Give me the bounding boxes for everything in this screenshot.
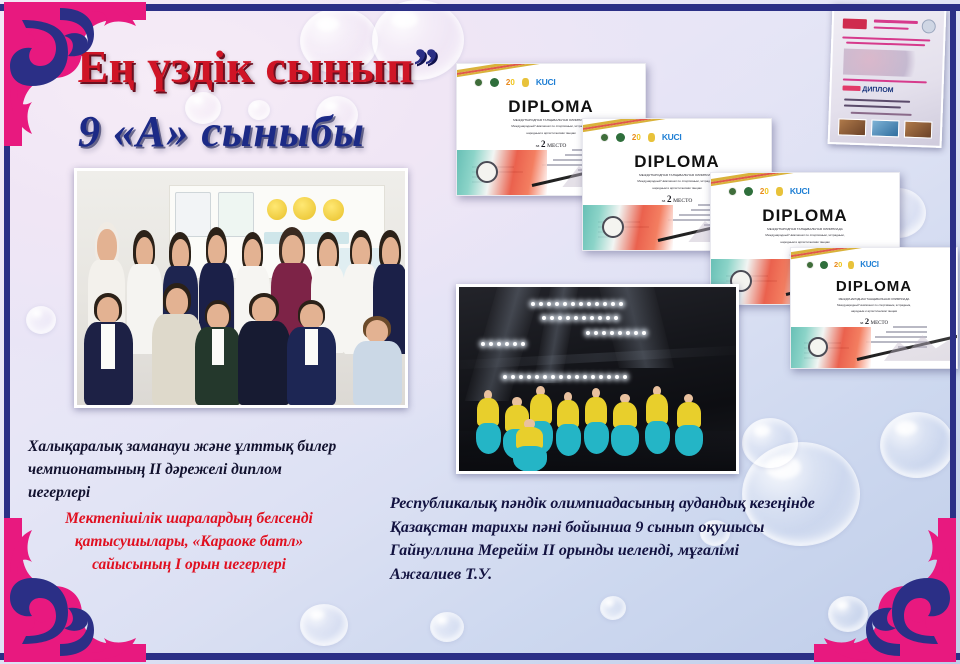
diploma-place: за 2 МЕСТО: [791, 316, 957, 326]
place-prefix: за: [860, 320, 864, 325]
figure-logo: [776, 187, 783, 196]
seal-icon: [602, 216, 624, 238]
diploma-subtitle-line2: Международный Чемпионат по спортивным, э…: [791, 303, 957, 307]
caption-line: чемпионатының II дәрежелі диплом: [28, 459, 428, 482]
anniversary-logo: 20: [632, 133, 641, 142]
frame-border-top: [0, 4, 960, 11]
diploma-subtitle-line3: народным и артистическим танцам: [711, 240, 899, 244]
kuci-logo: KUCI: [790, 186, 810, 196]
figure-logo: [522, 78, 529, 87]
caption-line: Мектепішілік шаралардың белсенді: [24, 508, 354, 531]
class-name-subtitle: 9 «А» сыныбы: [78, 106, 439, 157]
caption-line: сайысының I орын иегерлері: [24, 554, 354, 577]
diploma-subtitle-line1: МЕЖДУНАРОДНАЯ ТАНЦЕВАЛЬНАЯ ОЛИМПИАДА: [711, 227, 899, 231]
seal-icon: [476, 161, 498, 183]
place-number: 2: [541, 139, 546, 149]
poster-heading: “Ең үздік сынып” 9 «А» сыныбы: [52, 36, 439, 157]
emblem-icon: [744, 187, 753, 196]
poster-canvas: “Ең үздік сынып” 9 «А» сыныбы: [0, 0, 960, 664]
diploma-subtitle-line2: Международный Чемпионат по спортивным, э…: [711, 233, 899, 237]
caption-line: Республикалық пәндік олимпиадасының ауда…: [390, 492, 910, 516]
caption-line: Гайнуллина Мерейім II орынды иеленді, мұ…: [390, 539, 910, 563]
caption-line: Халықаралық заманауи және ұлттық билер: [28, 436, 428, 459]
bubble-decoration: [880, 412, 954, 478]
anniversary-logo: 20: [760, 187, 769, 196]
place-number: 2: [865, 316, 869, 326]
caption-line: иегерлері: [28, 482, 428, 505]
emblem-icon: [728, 187, 737, 196]
caption-line: қатысушылары, «Караоке батл»: [24, 531, 354, 554]
poster-thumbnail: [871, 119, 900, 138]
bubble-decoration: [26, 306, 56, 334]
bubble-decoration: [828, 596, 868, 632]
kuci-logo: KUCI: [860, 260, 878, 269]
diploma-title: DIPLOMA: [583, 152, 771, 172]
diploma-badge: ДИПЛОМ: [862, 86, 893, 94]
frame-border-left: [4, 4, 10, 660]
bubble-decoration: [742, 418, 798, 468]
frame-border-right: [950, 4, 956, 660]
bubble-decoration: [300, 604, 348, 646]
bubble-decoration: [600, 596, 626, 620]
emblem-icon: [490, 78, 499, 87]
place-word: МЕСТО: [547, 143, 566, 149]
dance-performance-photo: [456, 284, 739, 474]
frame-border-bottom: [0, 653, 960, 660]
caption-line: Ажғалиев Т.У.: [390, 563, 910, 587]
emblem-icon: [820, 261, 828, 269]
anniversary-logo: 20: [834, 260, 842, 269]
place-prefix: за: [662, 198, 666, 203]
poster-thumbnail: [904, 120, 933, 139]
caption-olympiad: Республикалық пәндік олимпиадасының ауда…: [390, 492, 910, 587]
emblem-icon: [806, 261, 814, 269]
place-number: 2: [667, 194, 672, 204]
emblem-icon: [922, 19, 936, 33]
diploma-title: DIPLOMA: [711, 206, 899, 226]
caption-line: Қазақстан тарихы пәні бойынша 9 сынып оқ…: [390, 516, 910, 540]
emblem-icon: [474, 78, 483, 87]
figure-logo: [848, 261, 854, 269]
seal-icon: [808, 337, 828, 357]
caption-dance-championship: Халықаралық заманауи және ұлттық билер ч…: [28, 436, 428, 505]
place-word: МЕСТО: [673, 198, 692, 204]
emblem-icon: [600, 133, 609, 142]
diploma-subtitle-line1: МЕЖДУНАРОДНАЯ ТАНЦЕВАЛЬНАЯ ОЛИМПИАДА: [791, 297, 957, 301]
kuci-logo: KUCI: [536, 77, 556, 87]
main-title-text: Ең үздік сынып: [78, 41, 414, 92]
bubble-decoration: [430, 612, 464, 642]
main-title: “Ең үздік сынып”: [52, 36, 439, 94]
emblem-icon: [616, 133, 625, 142]
diploma-card[interactable]: 20 KUCI DIPLOMA МЕЖДУНАРОДНАЯ ТАНЦЕВАЛЬН…: [790, 247, 958, 369]
diploma-title: DIPLOMA: [791, 278, 957, 295]
poster-thumbnail: [838, 118, 867, 137]
quote-close: ”: [413, 37, 439, 93]
caption-karaoke-battle: Мектепішілік шаралардың белсенді қатысуш…: [24, 508, 354, 577]
anniversary-logo: 20: [506, 78, 515, 87]
diploma-title: DIPLOMA: [457, 97, 645, 117]
quote-open: “: [52, 37, 78, 93]
figure-logo: [648, 133, 655, 142]
place-prefix: за: [536, 143, 540, 148]
class-group-photo: [74, 168, 408, 408]
diploma-subtitle-line3: народным и артистическим танцам: [791, 309, 957, 313]
karaoke-battle-certificate[interactable]: ДИПЛОМ: [828, 4, 947, 148]
kuci-logo: KUCI: [662, 132, 682, 142]
